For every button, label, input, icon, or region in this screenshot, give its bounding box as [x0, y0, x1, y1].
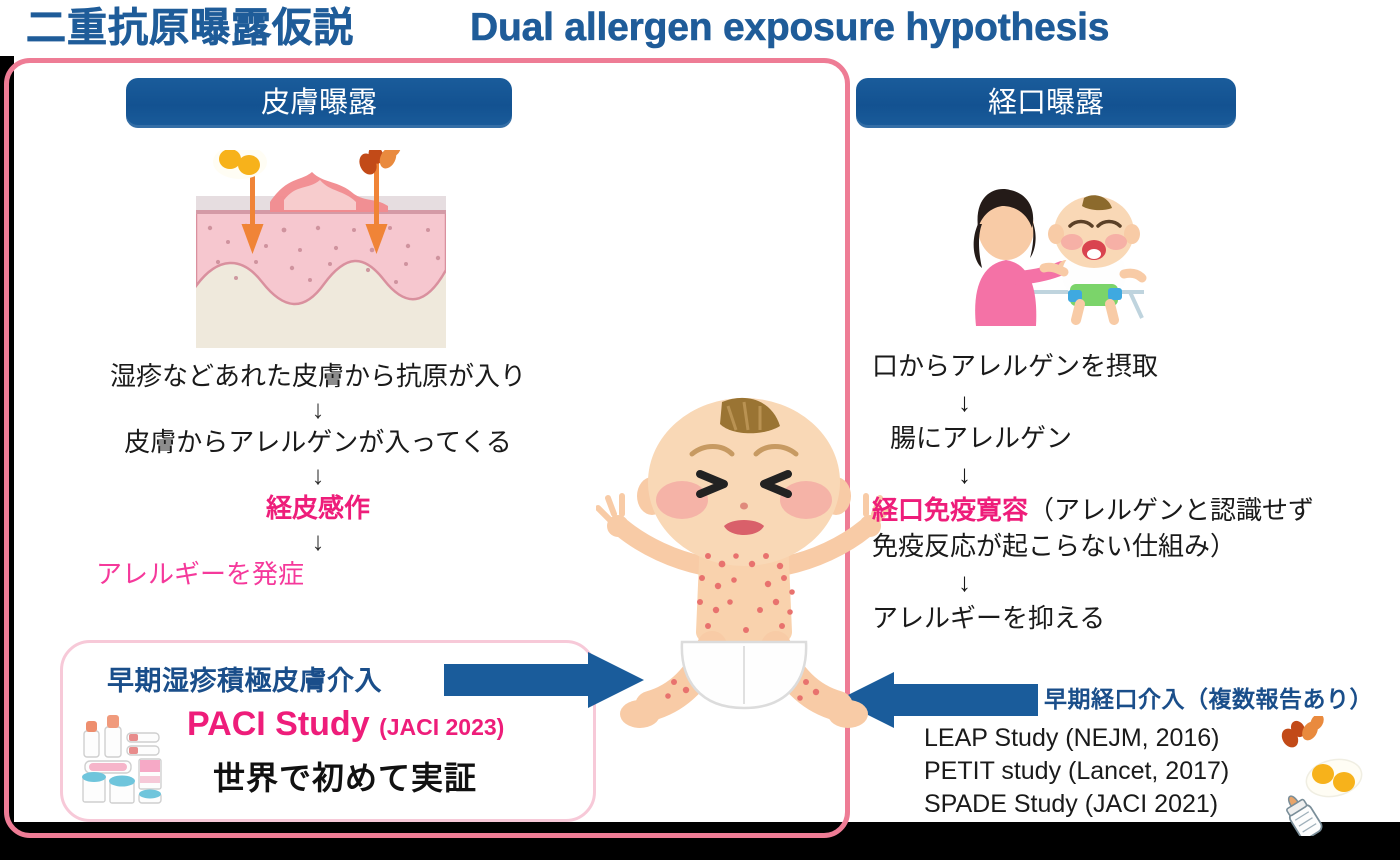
flow-step-sensitization: 経皮感作 — [78, 490, 558, 526]
flow-step-text: 免疫反応が起こらない仕組み） — [872, 528, 1392, 564]
flow-arrow-icon: ↓ — [872, 384, 1392, 420]
skin-cross-section-illustration — [196, 150, 446, 350]
mother-feeding-baby-illustration — [944, 176, 1160, 326]
flow-step-oral-tolerance: 経口免疫寛容（アレルゲンと認識せず — [872, 492, 1392, 528]
flow-arrow-icon: ↓ — [78, 526, 558, 556]
oral-intervention-heading: 早期経口介入（複数報告あり） — [1044, 680, 1373, 714]
flow-step-allergy-suppressed: アレルギーを抑える — [872, 600, 1392, 636]
skin-route-flow: 湿疹などあれた皮膚から抗原が入り ↓ 皮膚からアレルゲンが入ってくる ↓ 経皮感… — [78, 358, 578, 592]
baby-bottle-icon — [1280, 790, 1324, 836]
allergen-food-icons — [1276, 716, 1386, 836]
slide-canvas: 二重抗原曝露仮説 Dual allergen exposure hypothes… — [0, 0, 1400, 860]
oral-route-flow: 口からアレルゲンを摂取 ↓ 腸にアレルゲン ↓ 経口免疫寛容（アレルゲンと認識せ… — [872, 348, 1392, 636]
flow-step-text: 湿疹などあれた皮膚から抗原が入り — [78, 358, 558, 394]
peanut-icon — [356, 150, 404, 177]
paci-study-citation: (JACI 2023) — [379, 714, 504, 740]
header-pill-skin-exposure[interactable]: 皮膚曝露 — [126, 78, 512, 128]
list-item: LEAP Study (NEJM, 2016) — [924, 722, 1229, 755]
fried-egg-icon — [1303, 755, 1365, 802]
flow-arrow-icon: ↓ — [78, 460, 558, 490]
paci-study-name: PACI Study — [187, 705, 370, 743]
flow-step-text: 口からアレルゲンを摂取 — [872, 348, 1392, 384]
flow-arrow-icon: ↓ — [872, 456, 1392, 492]
oral-tolerance-note: （アレルゲンと認識せず — [1028, 495, 1314, 525]
fried-egg-icon — [213, 150, 267, 179]
slide-edge-left — [0, 56, 14, 860]
header-pill-oral-exposure[interactable]: 経口曝露 — [856, 78, 1236, 128]
slide-edge-bottom — [0, 822, 1400, 860]
page-title-japanese: 二重抗原曝露仮説 — [26, 2, 354, 54]
flow-step-text: 皮膚からアレルゲンが入ってくる — [78, 424, 558, 460]
peanut-icon — [1279, 716, 1327, 750]
paci-study-subtitle: 世界で初めて実証 — [213, 753, 477, 799]
list-item: PETIT study (Lancet, 2017) — [924, 755, 1229, 788]
flow-arrow-icon: ↓ — [78, 394, 558, 424]
paci-study-title: PACI Study (JACI 2023) — [187, 705, 504, 744]
skin-cross-section-icon — [196, 150, 446, 350]
flow-step-text: 腸にアレルゲン — [872, 420, 1392, 456]
list-item: SPADE Study (JACI 2021) — [924, 788, 1229, 821]
flow-arrow-icon: ↓ — [872, 564, 1392, 600]
oral-tolerance-term: 経口免疫寛容 — [872, 495, 1028, 525]
flow-step-allergy-onset: アレルギーを発症 — [78, 556, 578, 592]
topical-cream-bottles-icon — [79, 709, 185, 805]
page-title-english: Dual allergen exposure hypothesis — [470, 2, 1109, 54]
oral-study-list: LEAP Study (NEJM, 2016) PETIT study (Lan… — [924, 722, 1229, 821]
crying-baby-with-eczema-illustration — [596, 396, 892, 796]
paci-box-heading: 早期湿疹積極皮膚介入 — [107, 659, 382, 698]
title-row: 二重抗原曝露仮説 Dual allergen exposure hypothes… — [0, 0, 1400, 56]
